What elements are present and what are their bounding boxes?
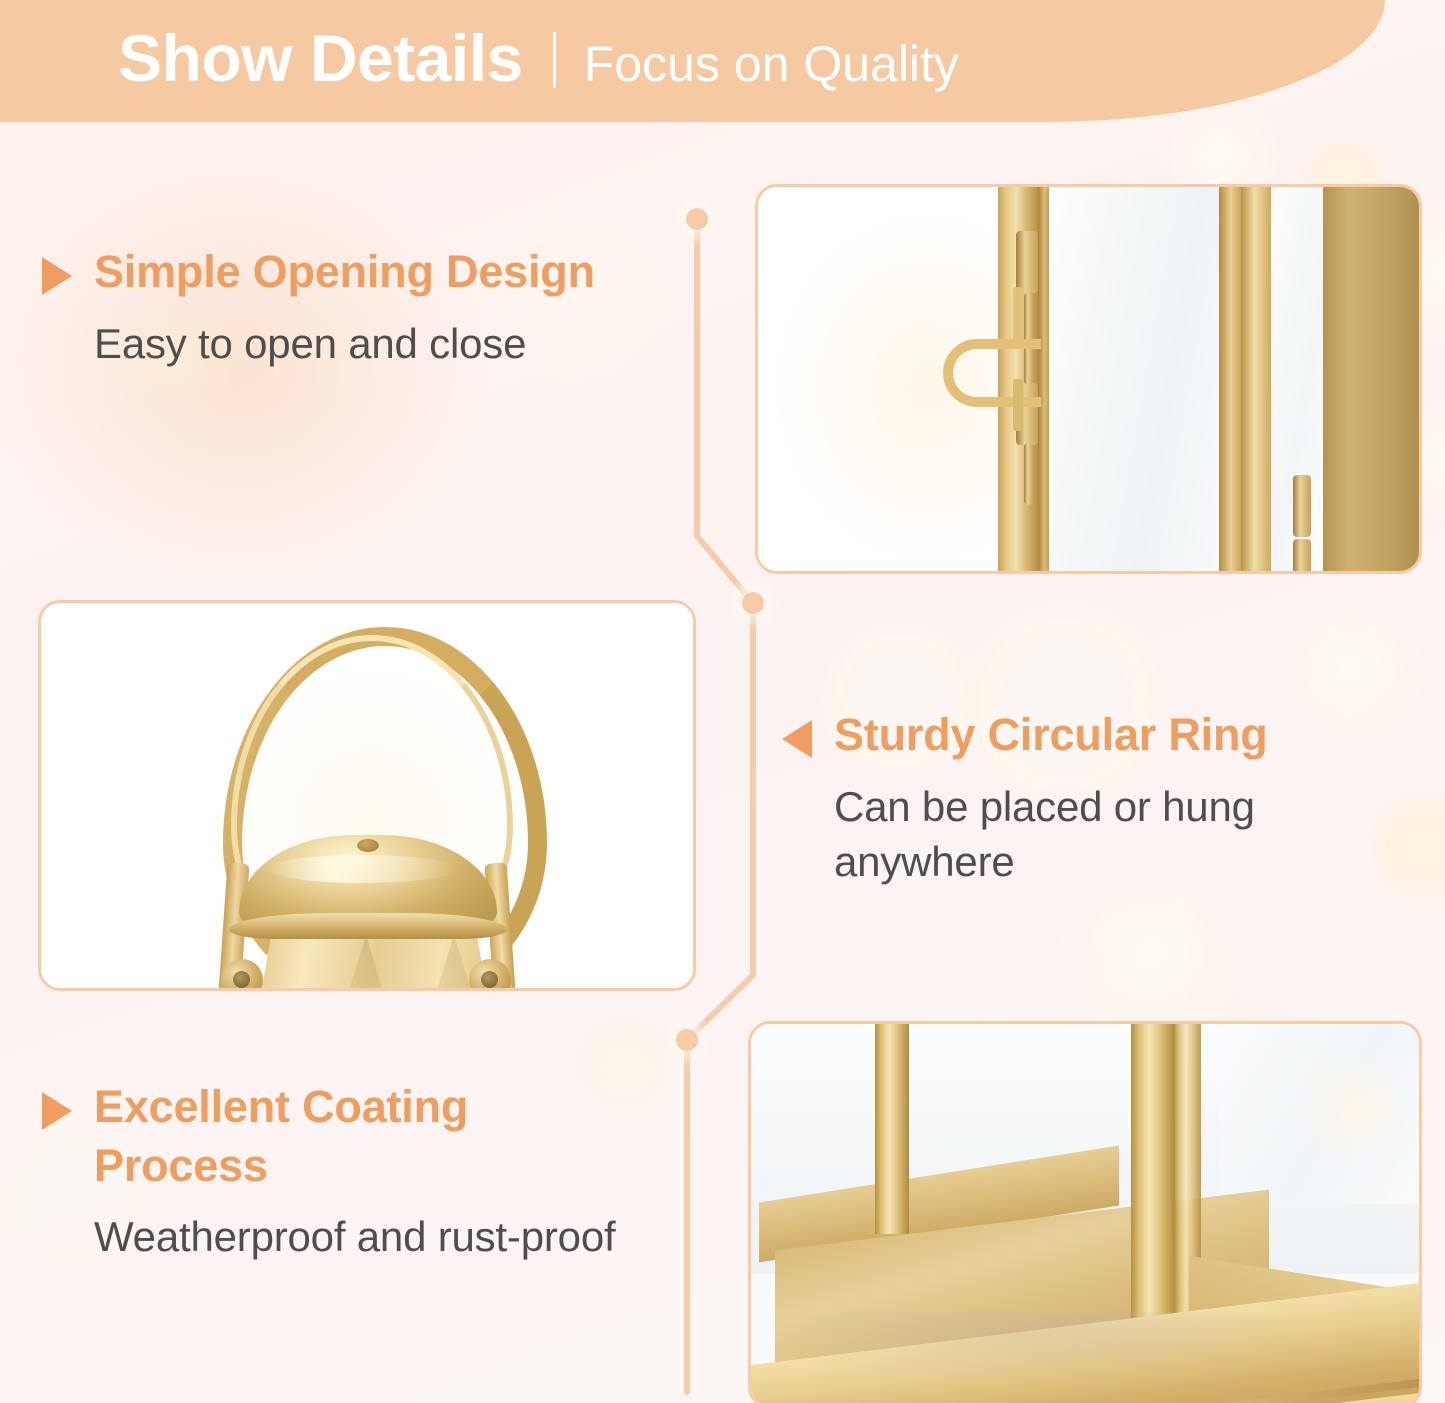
- product-shadow: [771, 1312, 1299, 1382]
- lantern-dome-knob: [357, 839, 379, 852]
- lantern-frame-post: [1241, 187, 1271, 571]
- lantern-frame-post: [1219, 187, 1241, 571]
- triangle-left-icon: [782, 720, 812, 758]
- photo-card-base-closeup: [748, 1021, 1422, 1403]
- connector-node-top: [686, 208, 708, 230]
- photo-latch-closeup: [758, 187, 1419, 571]
- ring-pivot-screw: [481, 971, 498, 988]
- header-band: Show Details Focus on Quality: [0, 0, 1385, 122]
- lantern-hinge-pin: [1024, 443, 1033, 505]
- dome-specular-highlight: [267, 855, 457, 883]
- feature-body: Can be placed or hung anywhere: [782, 779, 1392, 891]
- bokeh-light: [1279, 1034, 1419, 1184]
- feature-title: Excellent Coating Process: [94, 1078, 622, 1195]
- connector-node-middle: [742, 592, 764, 614]
- lantern-latch-arm: [1013, 287, 1023, 347]
- feature-body: Weatherproof and rust-proof: [42, 1209, 622, 1265]
- feature-block-sturdy-circular-ring: Sturdy Circular Ring Can be placed or hu…: [782, 706, 1392, 890]
- photo-base-closeup: [751, 1024, 1419, 1403]
- feature-body: Easy to open and close: [42, 316, 662, 372]
- photo-card-latch-closeup: [755, 184, 1422, 574]
- triangle-right-icon: [42, 1092, 72, 1130]
- photo-ring-handle-closeup: [41, 603, 693, 988]
- header-content: Show Details Focus on Quality: [0, 25, 959, 91]
- connector-node-bottom: [676, 1029, 698, 1051]
- feature-heading-row: Excellent Coating Process: [42, 1078, 622, 1195]
- lantern-latch-hook-icon: [943, 339, 1041, 407]
- lantern-hinge-icon: [1293, 475, 1311, 537]
- vertical-divider-icon: [553, 32, 556, 88]
- triangle-right-icon: [42, 257, 72, 295]
- lantern-latch-arm: [1013, 379, 1023, 431]
- page-title: Show Details: [118, 25, 523, 91]
- feature-heading-row: Sturdy Circular Ring: [782, 706, 1392, 765]
- feature-block-excellent-coating-process: Excellent Coating Process Weatherproof a…: [42, 1078, 622, 1265]
- photo-card-ring-handle: [38, 600, 696, 991]
- ring-pivot-screw: [233, 971, 250, 988]
- feature-title: Sturdy Circular Ring: [834, 706, 1268, 765]
- feature-title: Simple Opening Design: [94, 243, 595, 302]
- infographic-page: Show Details Focus on Quality: [0, 0, 1445, 1403]
- feature-block-simple-opening-design: Simple Opening Design Easy to open and c…: [42, 243, 662, 371]
- lantern-hinge-icon: [1293, 539, 1311, 571]
- page-subtitle: Focus on Quality: [584, 39, 959, 89]
- lantern-dome-lip: [229, 913, 507, 939]
- lantern-corner-post: [875, 1024, 909, 1234]
- lantern-frame-post: [1323, 187, 1419, 571]
- lantern-glass-panel: [1049, 187, 1219, 571]
- lantern-hinge-icon: [1016, 231, 1038, 293]
- feature-heading-row: Simple Opening Design: [42, 243, 662, 302]
